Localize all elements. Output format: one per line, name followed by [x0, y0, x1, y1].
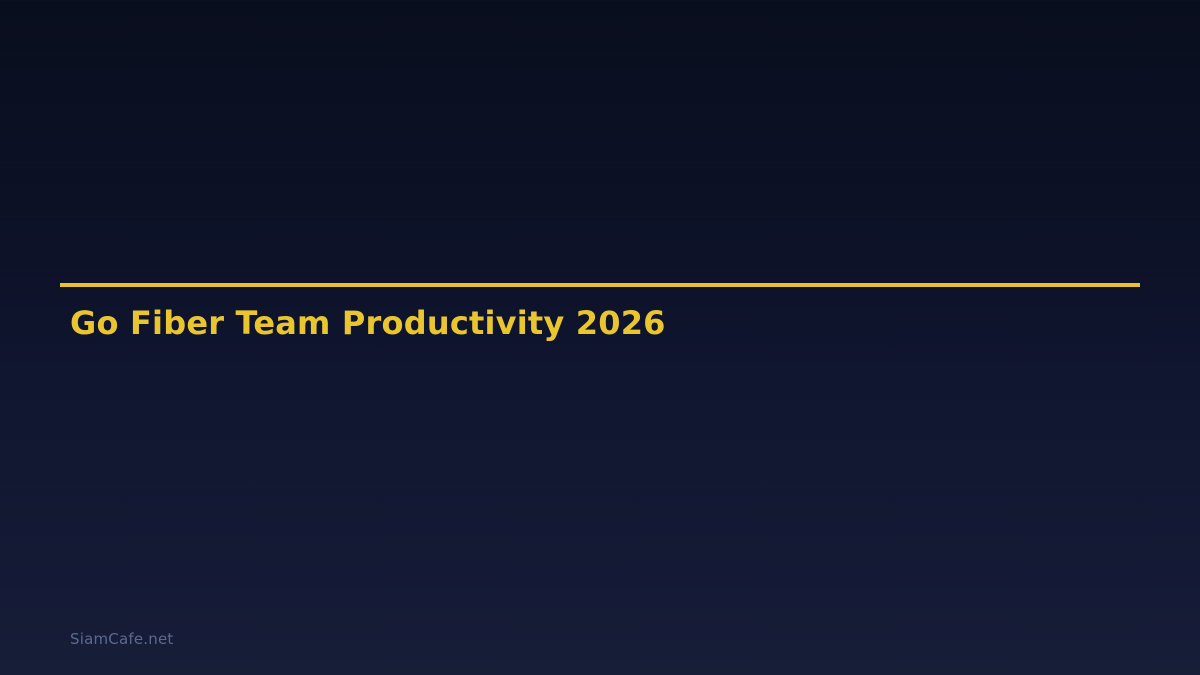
page-title: Go Fiber Team Productivity 2026 — [70, 304, 666, 342]
accent-rule — [60, 283, 1140, 287]
title-slide: Go Fiber Team Productivity 2026 SiamCafe… — [0, 0, 1200, 675]
footer-brand: SiamCafe.net — [70, 630, 173, 648]
title-block: Go Fiber Team Productivity 2026 — [60, 283, 1140, 287]
